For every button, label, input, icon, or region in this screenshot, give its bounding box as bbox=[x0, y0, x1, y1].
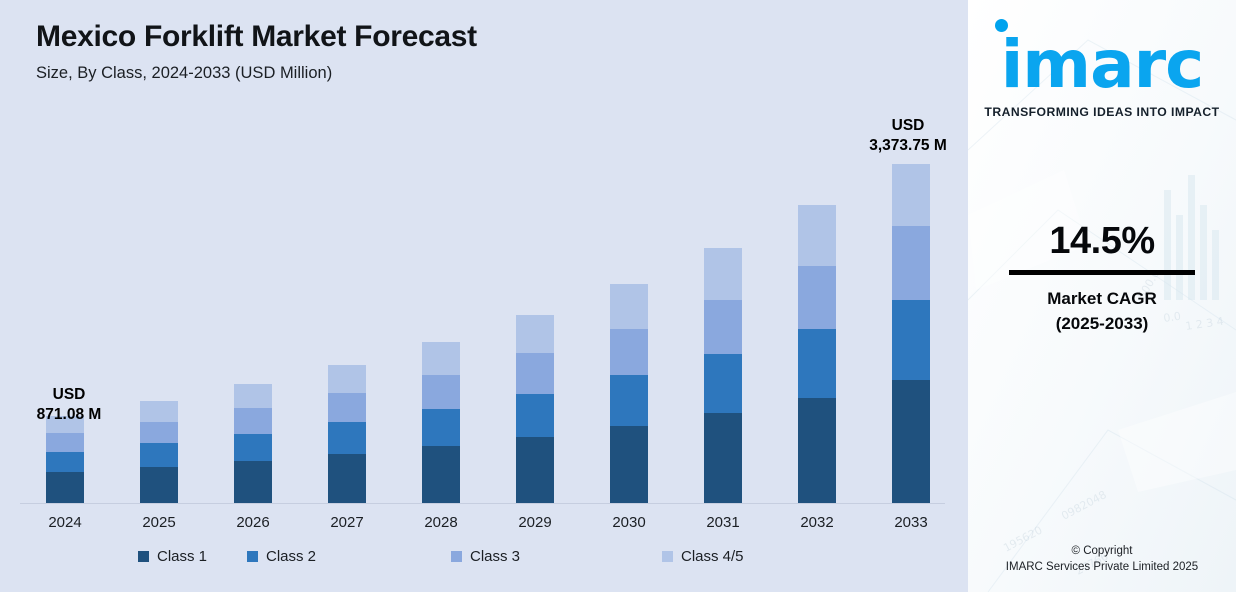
axis-baseline bbox=[20, 503, 945, 504]
bar-segment-class-3[interactable] bbox=[610, 329, 648, 376]
chart-panel: Mexico Forklift Market Forecast Size, By… bbox=[0, 0, 968, 592]
bar-segment-class-2[interactable] bbox=[140, 443, 178, 466]
legend-item-class-1[interactable]: Class 1 bbox=[20, 548, 225, 565]
bar-segment-class-3[interactable] bbox=[46, 433, 84, 452]
bar-segment-class-1[interactable] bbox=[798, 398, 836, 503]
copyright-line-1: © Copyright bbox=[968, 543, 1236, 560]
bar-group-2028[interactable] bbox=[422, 342, 460, 503]
bar-group-2027[interactable] bbox=[328, 365, 366, 503]
x-axis-label-2024: 2024 bbox=[25, 514, 105, 531]
bar-group-2030[interactable] bbox=[610, 284, 648, 503]
stacked-bar[interactable] bbox=[516, 315, 554, 503]
legend-item-class-3[interactable]: Class 3 bbox=[430, 548, 635, 565]
legend-swatch-icon bbox=[662, 551, 673, 562]
bar-segment-class-4-5[interactable] bbox=[516, 315, 554, 353]
bar-segment-class-4-5[interactable] bbox=[234, 384, 272, 408]
x-axis-label-2025: 2025 bbox=[119, 514, 199, 531]
cagr-value: 14.5% bbox=[968, 222, 1236, 262]
bar-group-2033[interactable] bbox=[892, 164, 930, 503]
bar-chart-plot: 2024202520262027202820292030203120322033 bbox=[0, 0, 968, 592]
stacked-bar[interactable] bbox=[704, 248, 742, 503]
legend-swatch-icon bbox=[247, 551, 258, 562]
legend-label: Class 4/5 bbox=[681, 548, 744, 565]
logo-dot-icon bbox=[995, 19, 1008, 32]
bar-segment-class-1[interactable] bbox=[892, 380, 930, 503]
bar-segment-class-3[interactable] bbox=[704, 300, 742, 355]
x-axis-label-2026: 2026 bbox=[213, 514, 293, 531]
stacked-bar[interactable] bbox=[610, 284, 648, 503]
bar-segment-class-4-5[interactable] bbox=[328, 365, 366, 393]
cagr-divider bbox=[1009, 270, 1195, 275]
bar-segment-class-4-5[interactable] bbox=[892, 164, 930, 226]
bar-segment-class-1[interactable] bbox=[422, 446, 460, 503]
bar-segment-class-4-5[interactable] bbox=[798, 205, 836, 265]
stacked-bar[interactable] bbox=[422, 342, 460, 503]
x-axis-label-2031: 2031 bbox=[683, 514, 763, 531]
copyright-line-2: IMARC Services Private Limited 2025 bbox=[968, 559, 1236, 576]
bar-segment-class-4-5[interactable] bbox=[422, 342, 460, 375]
bar-segment-class-1[interactable] bbox=[610, 426, 648, 503]
infographic-root: Mexico Forklift Market Forecast Size, By… bbox=[0, 0, 1236, 592]
bar-segment-class-2[interactable] bbox=[798, 329, 836, 397]
cagr-block: 14.5% Market CAGR (2025-2033) bbox=[968, 222, 1236, 336]
stacked-bar[interactable] bbox=[892, 164, 930, 503]
logo-tagline: TRANSFORMING IDEAS INTO IMPACT bbox=[968, 105, 1236, 119]
bar-segment-class-2[interactable] bbox=[46, 452, 84, 472]
stacked-bar[interactable] bbox=[798, 205, 836, 503]
legend-label: Class 2 bbox=[266, 548, 316, 565]
callout-first-amount: 871.08 M bbox=[16, 405, 122, 425]
legend-swatch-icon bbox=[138, 551, 149, 562]
stacked-bar[interactable] bbox=[234, 384, 272, 503]
bar-segment-class-1[interactable] bbox=[328, 454, 366, 503]
bar-segment-class-2[interactable] bbox=[328, 422, 366, 454]
x-axis-label-2028: 2028 bbox=[401, 514, 481, 531]
callout-last-currency: USD bbox=[846, 116, 970, 136]
bar-segment-class-3[interactable] bbox=[140, 422, 178, 444]
bar-segment-class-2[interactable] bbox=[234, 434, 272, 461]
bar-segment-class-1[interactable] bbox=[704, 413, 742, 503]
imarc-logo: imarc TRANSFORMING IDEAS INTO IMPACT bbox=[968, 18, 1236, 119]
bar-segment-class-1[interactable] bbox=[46, 472, 84, 503]
stacked-bar[interactable] bbox=[46, 416, 84, 504]
bar-segment-class-3[interactable] bbox=[892, 226, 930, 300]
callout-last-amount: 3,373.75 M bbox=[846, 136, 970, 156]
bar-segment-class-2[interactable] bbox=[422, 409, 460, 446]
bar-segment-class-1[interactable] bbox=[140, 467, 178, 503]
bar-segment-class-2[interactable] bbox=[892, 300, 930, 380]
legend-swatch-icon bbox=[451, 551, 462, 562]
legend-item-class-2[interactable]: Class 2 bbox=[225, 548, 430, 565]
cagr-label: Market CAGR bbox=[968, 287, 1236, 312]
chart-legend: Class 1Class 2Class 3Class 4/5 bbox=[20, 548, 945, 565]
bar-segment-class-3[interactable] bbox=[328, 393, 366, 423]
x-axis-label-2029: 2029 bbox=[495, 514, 575, 531]
stacked-bar[interactable] bbox=[328, 365, 366, 503]
x-axis-label-2027: 2027 bbox=[307, 514, 387, 531]
logo-wordmark: imarc bbox=[968, 18, 1236, 98]
bar-group-2024[interactable] bbox=[46, 416, 84, 504]
bar-segment-class-3[interactable] bbox=[516, 353, 554, 393]
bar-segment-class-3[interactable] bbox=[234, 408, 272, 433]
bar-segment-class-3[interactable] bbox=[798, 266, 836, 330]
stacked-bar[interactable] bbox=[140, 401, 178, 503]
bar-segment-class-3[interactable] bbox=[422, 375, 460, 409]
bar-segment-class-1[interactable] bbox=[516, 437, 554, 503]
cagr-period: (2025-2033) bbox=[968, 312, 1236, 337]
bar-segment-class-4-5[interactable] bbox=[704, 248, 742, 300]
bar-group-2031[interactable] bbox=[704, 248, 742, 503]
legend-label: Class 1 bbox=[157, 548, 207, 565]
x-axis-label-2030: 2030 bbox=[589, 514, 669, 531]
callout-first-value: USD 871.08 M bbox=[16, 385, 122, 425]
bar-segment-class-1[interactable] bbox=[234, 461, 272, 503]
copyright-notice: © Copyright IMARC Services Private Limit… bbox=[968, 543, 1236, 576]
bar-segment-class-4-5[interactable] bbox=[140, 401, 178, 422]
legend-item-class-4-5[interactable]: Class 4/5 bbox=[635, 548, 845, 565]
x-axis-label-2033: 2033 bbox=[871, 514, 951, 531]
callout-last-value: USD 3,373.75 M bbox=[846, 116, 970, 156]
callout-first-currency: USD bbox=[16, 385, 122, 405]
brand-panel: 0.0 1 2 3 4 500.0 0982048 195620 27766 i… bbox=[968, 0, 1236, 592]
bar-segment-class-2[interactable] bbox=[610, 375, 648, 425]
bar-group-2032[interactable] bbox=[798, 205, 836, 503]
bar-segment-class-2[interactable] bbox=[704, 354, 742, 413]
x-axis-label-2032: 2032 bbox=[777, 514, 857, 531]
legend-label: Class 3 bbox=[470, 548, 520, 565]
bar-segment-class-2[interactable] bbox=[516, 394, 554, 437]
bar-group-2025[interactable] bbox=[140, 401, 178, 503]
bar-segment-class-4-5[interactable] bbox=[610, 284, 648, 329]
bar-group-2026[interactable] bbox=[234, 384, 272, 503]
bar-group-2029[interactable] bbox=[516, 315, 554, 503]
